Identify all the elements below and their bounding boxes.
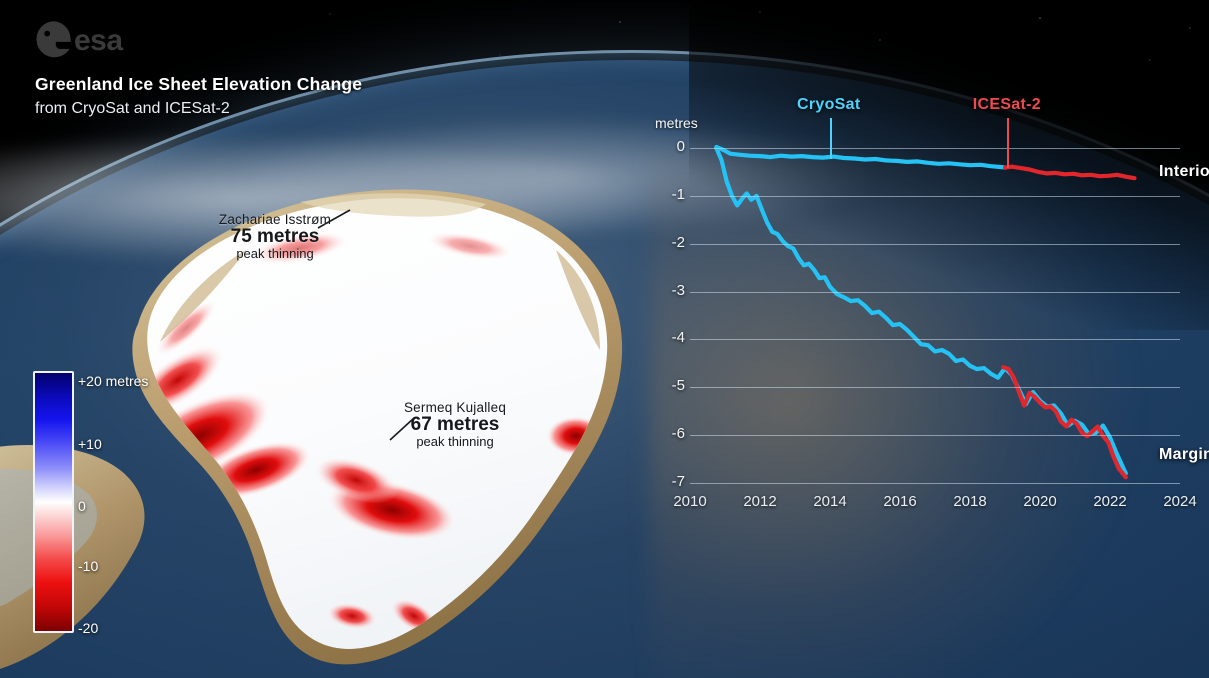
greenland-map: Zachariae Isstrøm 75 metres peak thinnin… — [0, 118, 690, 678]
esa-logo: esa — [34, 19, 146, 61]
series-label-icesat2: ICESat-2 — [973, 96, 1041, 114]
pointer-line-cryosat — [830, 118, 832, 159]
page-subtitle: from CryoSat and ICESat-2 — [35, 100, 230, 118]
annotation-name: Sermeq Kujalleq — [340, 400, 570, 415]
gridline-y-minus7 — [690, 483, 1180, 484]
y-tick-label: -4 — [655, 329, 685, 346]
greenland-map-graphic — [0, 118, 690, 678]
chart-plot-area — [655, 110, 1209, 520]
annotation-caption: peak thinning — [340, 434, 570, 449]
x-tick-label: 2012 — [732, 493, 788, 510]
gridline-y-minus6 — [690, 435, 1180, 436]
screenshot-root: esa Greenland Ice Sheet Elevation Change… — [0, 0, 1209, 678]
x-tick-label: 2020 — [1012, 493, 1068, 510]
page-title: Greenland Ice Sheet Elevation Change — [35, 74, 362, 95]
y-tick-label: -2 — [655, 234, 685, 251]
x-tick-label: 2024 — [1152, 493, 1208, 510]
annotation-caption: peak thinning — [160, 246, 390, 261]
y-tick-label: 0 — [655, 138, 685, 155]
y-tick-label: -6 — [655, 425, 685, 442]
colorbar-tick-plus20: +20 metres — [78, 373, 148, 389]
x-tick-label: 2016 — [872, 493, 928, 510]
x-tick-label: 2022 — [1082, 493, 1138, 510]
x-tick-label: 2018 — [942, 493, 998, 510]
series-line-interior-cryosat — [716, 147, 1005, 168]
annotation-value: 67 metres — [340, 414, 570, 436]
x-tick-label: 2010 — [662, 493, 718, 510]
gridline-y-minus1 — [690, 196, 1180, 197]
y-axis-label: metres — [655, 115, 698, 131]
y-tick-label: -3 — [655, 282, 685, 299]
colorbar-tick-minus20: -20 — [78, 620, 98, 636]
gridline-y-minus3 — [690, 292, 1180, 293]
x-tick-label: 2014 — [802, 493, 858, 510]
gridline-y-minus4 — [690, 339, 1180, 340]
y-tick-label: -1 — [655, 186, 685, 203]
series-label-cryosat: CryoSat — [797, 96, 860, 114]
elevation-colorbar — [33, 371, 74, 633]
series-label-margin: Margin — [1159, 446, 1209, 464]
gridline-y-0 — [690, 148, 1180, 149]
colorbar-tick-minus10: -10 — [78, 558, 98, 574]
y-tick-label: -5 — [655, 377, 685, 394]
annotation-zachariae: Zachariae Isstrøm 75 metres peak thinnin… — [160, 212, 390, 261]
series-line-interior-icesat2 — [1005, 167, 1135, 179]
elevation-change-chart: metres 0-1-2-3-4-5-6-7 20102012201420162… — [655, 110, 1209, 520]
y-tick-label: -7 — [655, 473, 685, 490]
gridline-y-minus5 — [690, 387, 1180, 388]
pointer-line-icesat2 — [1007, 118, 1009, 168]
annotation-sermeq: Sermeq Kujalleq 67 metres peak thinning — [340, 400, 570, 449]
annotation-value: 75 metres — [160, 226, 390, 248]
series-label-interior: Interior — [1159, 163, 1209, 181]
svg-text:esa: esa — [74, 24, 123, 57]
colorbar-tick-plus10: +10 — [78, 436, 102, 452]
colorbar-tick-zero: 0 — [78, 498, 86, 514]
annotation-name: Zachariae Isstrøm — [160, 212, 390, 227]
gridline-y-minus2 — [690, 244, 1180, 245]
series-line-margin-icesat2 — [1003, 367, 1126, 477]
